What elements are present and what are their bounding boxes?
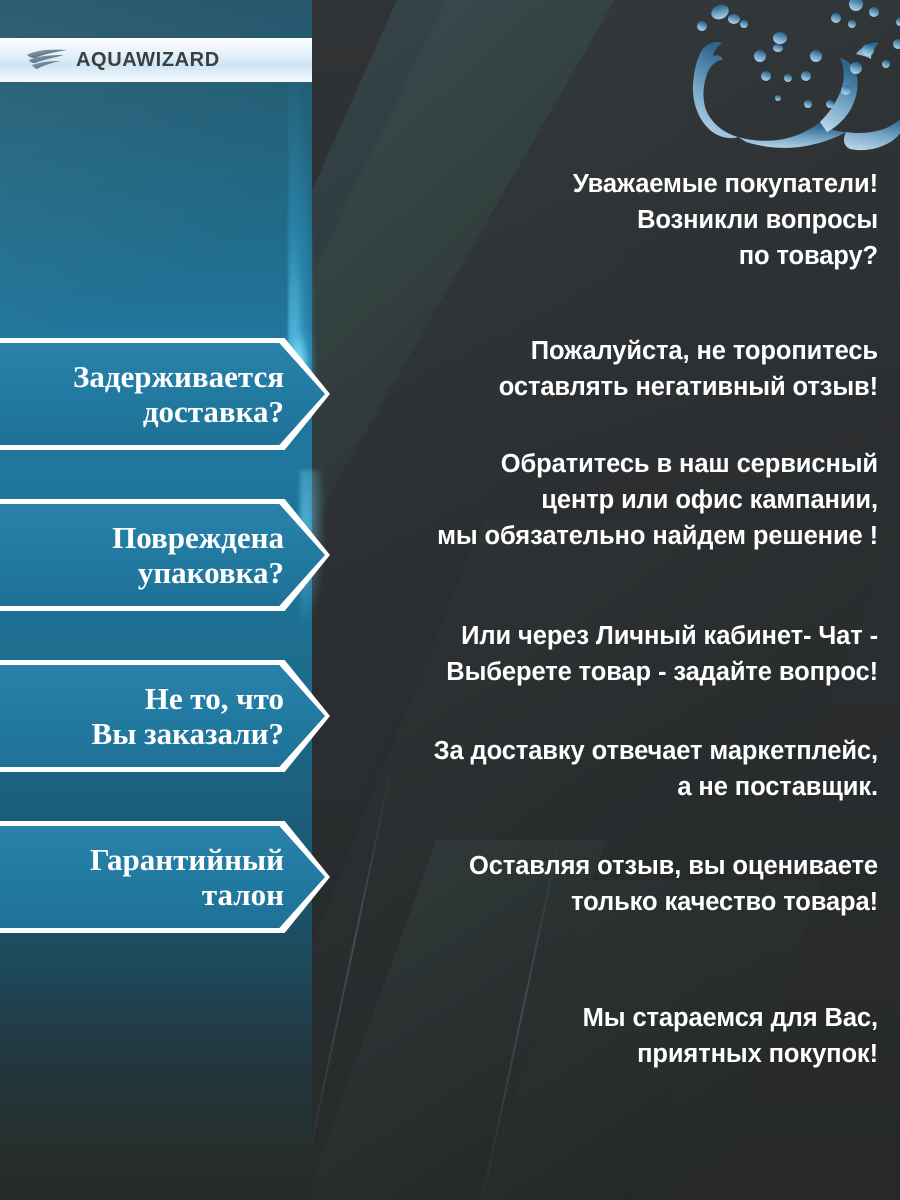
banner-wrong-item[interactable]: Не то, что Вы заказали? [0,660,330,772]
message-chat-channel: Или через Личный кабинет- Чат - Выберете… [318,618,878,690]
message-dont-rush: Пожалуйста, не торопитесь оставлять нега… [318,333,878,405]
banner-label: Гарантийный талон [90,842,330,913]
brand-logo-bar: AQUAWIZARD [0,38,312,82]
message-delivery-note: За доставку отвечает маркетплейс, а не п… [318,733,878,805]
brand-name: AQUAWIZARD [76,49,220,72]
message-greeting: Уважаемые покупатели! Возникли вопросы п… [318,166,878,275]
water-splash-icon [660,0,900,159]
banner-label: Не то, что Вы заказали? [92,681,330,752]
message-contact-service: Обратитесь в наш сервисный центр или офи… [318,446,878,555]
banner-delivery-delayed[interactable]: Задерживается доставка? [0,338,330,450]
banner-warranty-card[interactable]: Гарантийный талон [0,821,330,933]
promo-poster: AQUAWIZARD Задерживается доставка? Повре… [0,0,900,1200]
message-closing: Мы стараемся для Вас, приятных покупок! [318,1000,878,1072]
banner-label: Повреждена упаковка? [112,520,330,591]
banner-damaged-packaging[interactable]: Повреждена упаковка? [0,499,330,611]
banner-label: Задерживается доставка? [73,359,330,430]
message-review-scope: Оставляя отзыв, вы оцениваете только кач… [318,848,878,920]
wave-swoosh-icon [26,49,68,71]
